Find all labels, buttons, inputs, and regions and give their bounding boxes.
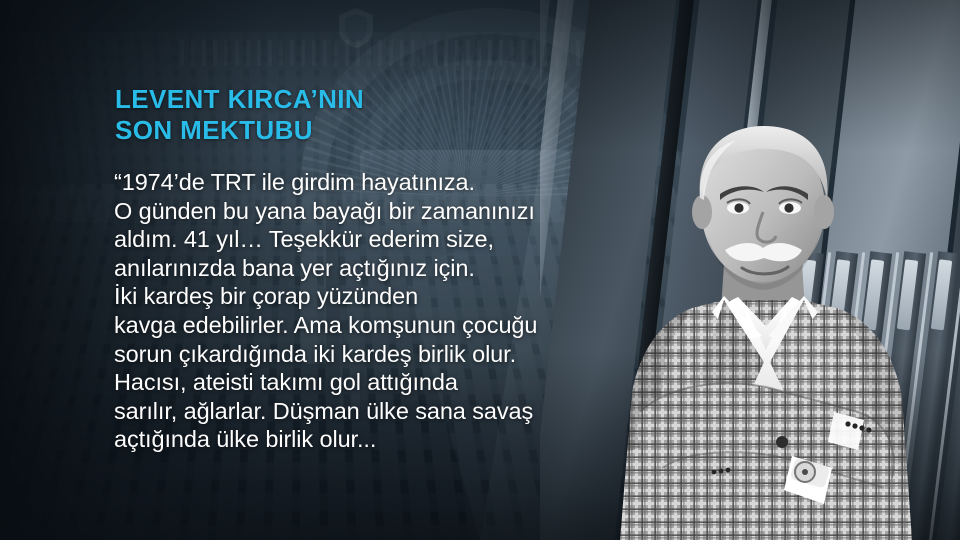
page-title: LEVENT KIRCA’NIN SON MEKTUBU: [115, 84, 364, 146]
quote-text: “1974’de TRT ile girdim hayatınıza. O gü…: [114, 168, 634, 454]
quote-card-graphic: LEVENT KIRCA’NIN SON MEKTUBU “1974’de TR…: [0, 0, 960, 540]
portrait-levent-kirca: [596, 112, 960, 540]
jacket-button: [776, 436, 788, 448]
